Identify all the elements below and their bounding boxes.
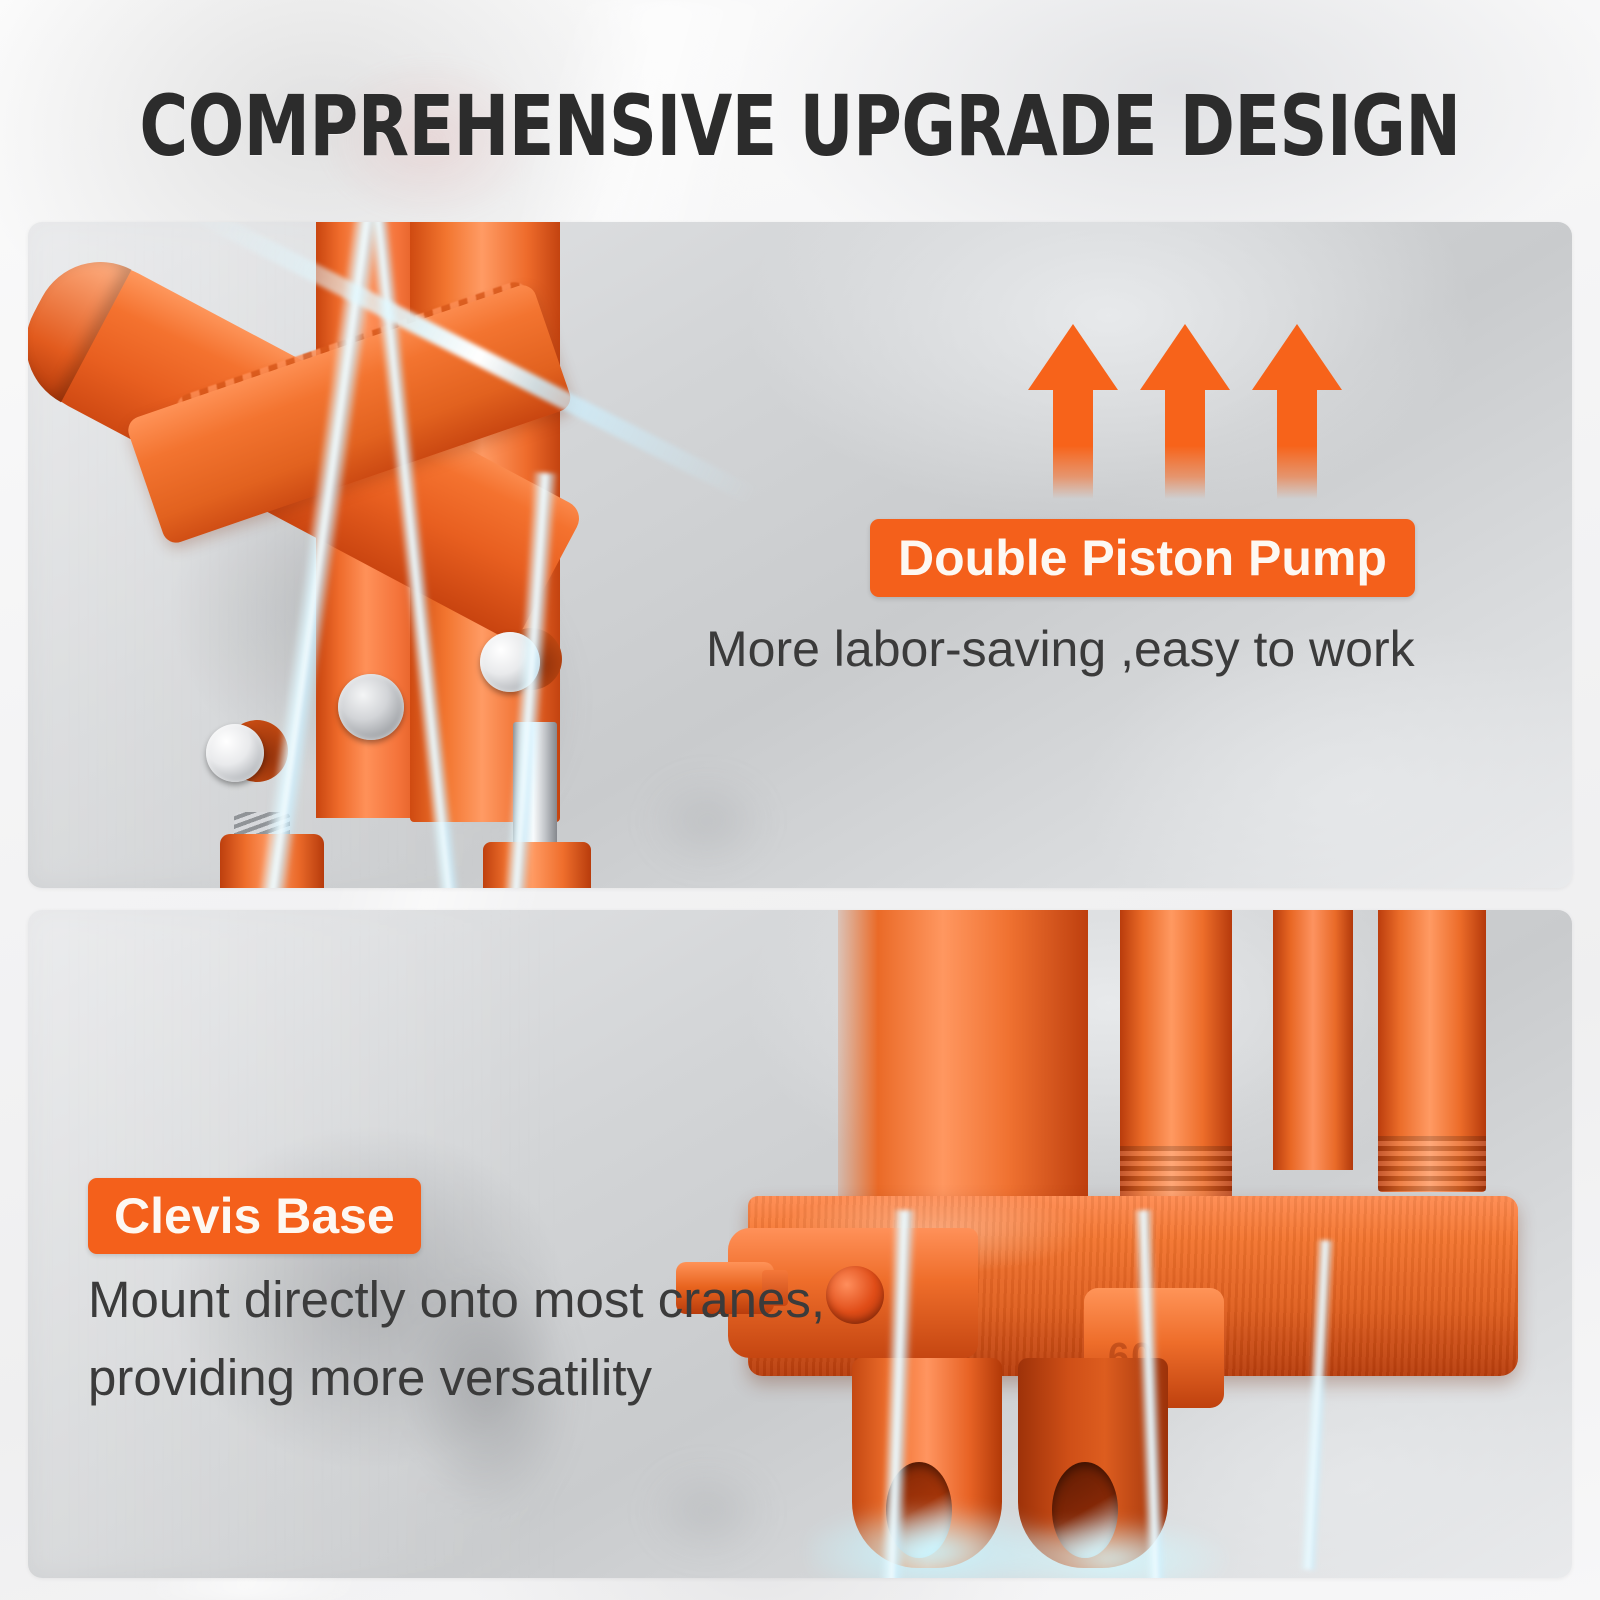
steel-pin-icon [480,632,540,692]
clevis-pin-hole [1052,1462,1118,1558]
up-arrow-icon [1252,324,1342,499]
arrow-head [1140,324,1230,390]
pump-tube-1 [1120,910,1232,1200]
feature-caption-clevis-base-line-2: providing more versatility [88,1348,652,1407]
pump-tube-3 [1378,910,1486,1192]
ram-body [838,910,1088,1230]
up-arrow-icon [1140,324,1230,499]
steel-pin-icon [338,674,404,740]
triple-up-arrow-icon [1028,324,1338,499]
arrow-head [1028,324,1118,390]
feature-badge-clevis-base: Clevis Base [88,1178,421,1254]
piston-cylinder-right [483,842,591,888]
clevis-pin-hole [886,1462,952,1558]
arrow-shaft [1277,388,1317,499]
arrow-shaft [1165,388,1205,499]
product-photo-clevis-base [688,910,1572,1578]
arrow-head [1252,324,1342,390]
up-arrow-icon [1028,324,1118,499]
pump-tube-2 [1273,910,1353,1170]
feature-caption-double-piston-pump: More labor-saving ,easy to work [706,620,1415,678]
feature-badge-double-piston-pump: Double Piston Pump [870,519,1415,597]
piston-rod [513,722,557,862]
red-bolt-icon [826,1266,884,1324]
arrow-shaft [1053,388,1093,499]
clevis-tang-right [1018,1358,1168,1568]
clevis-tang-left [852,1358,1002,1568]
steel-pin-icon [206,724,264,782]
feature-caption-clevis-base-line-1: Mount directly onto most cranes, [88,1270,825,1329]
product-photo-double-piston-pump [28,222,848,888]
page-title: COMPREHENSIVE UPGRADE DESIGN [96,78,1504,174]
piston-cylinder-left [220,834,324,888]
